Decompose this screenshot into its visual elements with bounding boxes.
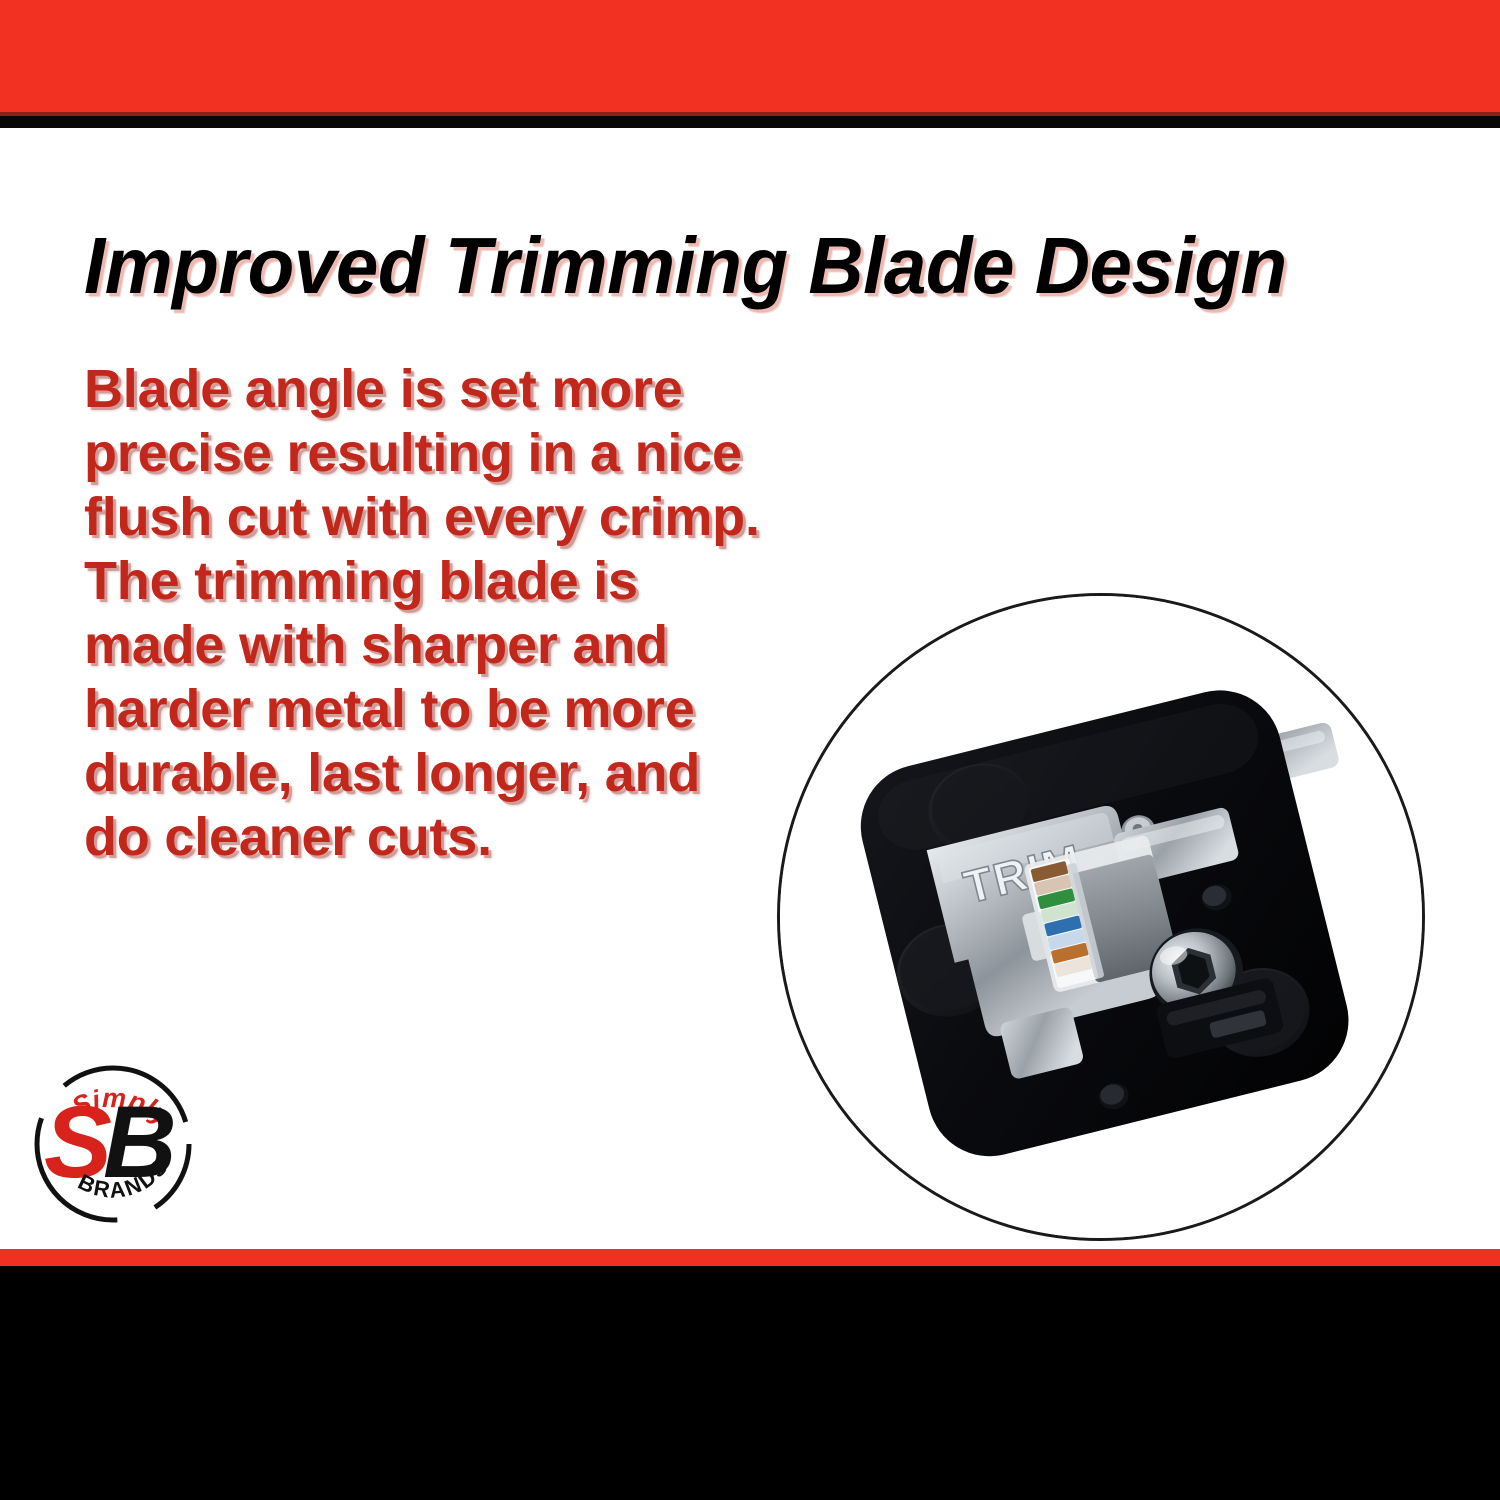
description-paragraph: Blade angle is set more precise resultin… <box>84 358 774 870</box>
page-title: Improved Trimming Blade Design <box>84 226 1402 306</box>
bottom-black-band <box>0 1266 1500 1500</box>
promo-banner: Improved Trimming Blade Design Blade ang… <box>0 0 1500 1500</box>
top-red-band <box>0 0 1500 113</box>
bottom-red-band <box>0 1249 1500 1267</box>
top-black-band <box>0 116 1500 128</box>
product-photo-circle: TRIM <box>777 593 1425 1241</box>
brand-logo: Simply S B BRANDS <box>24 1055 202 1233</box>
crimping-tool-illustration: TRIM <box>780 596 1422 1238</box>
